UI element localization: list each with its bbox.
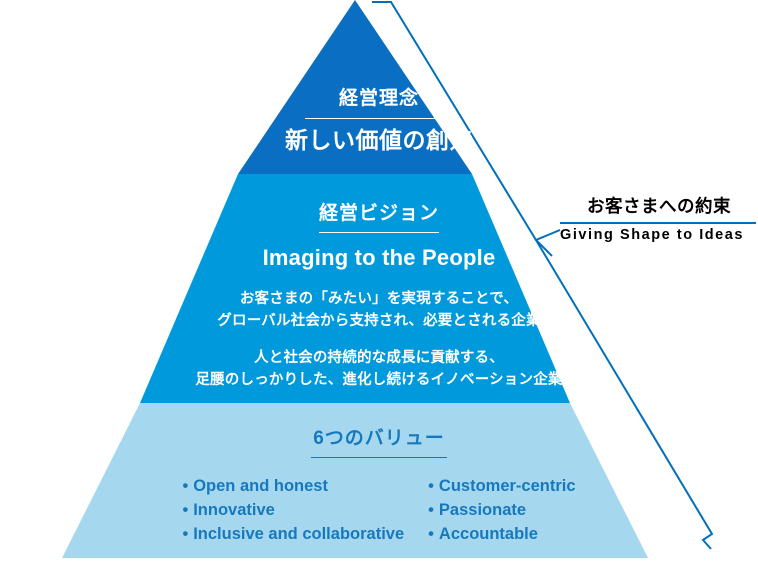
callout-heading: お客さまへの約束 [560, 196, 758, 218]
customer-promise-callout: お客さまへの約束 Giving Shape to Ideas [560, 196, 758, 244]
vision-statements: お客さまの「みたい」を実現することで、 グローバル社会から支持され、必要とされる… [0, 288, 758, 391]
values-columns: •Open and honest •Innovative •Inclusive … [0, 474, 758, 546]
vision-divider [319, 232, 439, 233]
value-item: •Inclusive and collaborative [182, 522, 404, 546]
bullet-icon: • [428, 522, 434, 546]
values-column-right: •Customer-centric •Passionate •Accountab… [428, 474, 575, 546]
value-label: Innovative [193, 501, 275, 519]
value-item: •Innovative [182, 498, 404, 522]
bullet-icon: • [182, 474, 188, 498]
value-item: •Passionate [428, 498, 575, 522]
values-block: 6つのバリュー •Open and honest •Innovative •In… [0, 428, 758, 547]
callout-divider [560, 222, 756, 224]
philosophy-heading: 経営理念 [0, 88, 758, 111]
value-label: Open and honest [193, 477, 328, 495]
value-label: Accountable [439, 525, 538, 543]
vision-statement-line: グローバル社会から支持され、必要とされる企業 [0, 310, 758, 332]
values-heading: 6つのバリュー [0, 428, 758, 451]
philosophy-divider [305, 118, 453, 119]
values-divider [311, 457, 447, 459]
value-label: Inclusive and collaborative [193, 525, 404, 543]
values-column-left: •Open and honest •Innovative •Inclusive … [182, 474, 404, 546]
vision-statement-line: 人と社会の持続的な成長に貢献する、 [0, 347, 758, 369]
bullet-icon: • [182, 498, 188, 522]
vision-statement-line: お客さまの「みたい」を実現することで、 [0, 288, 758, 310]
vision-statement: お客さまの「みたい」を実現することで、 グローバル社会から支持され、必要とされる… [0, 288, 758, 332]
value-item: •Open and honest [182, 474, 404, 498]
value-item: •Customer-centric [428, 474, 575, 498]
bullet-icon: • [428, 498, 434, 522]
value-item: •Accountable [428, 522, 575, 546]
philosophy-statement: 新しい価値の創造 [0, 127, 758, 155]
bullet-icon: • [428, 474, 434, 498]
value-label: Passionate [439, 501, 526, 519]
vision-statement: 人と社会の持続的な成長に貢献する、 足腰のしっかりした、進化し続けるイノベーショ… [0, 347, 758, 391]
callout-tagline: Giving Shape to Ideas [560, 227, 758, 244]
philosophy-block: 経営理念 新しい価値の創造 [0, 88, 758, 154]
vision-statement-line: 足腰のしっかりした、進化し続けるイノベーション企業 [0, 369, 758, 391]
vision-tagline: Imaging to the People [0, 245, 758, 271]
bullet-icon: • [182, 522, 188, 546]
pyramid-diagram: 経営理念 新しい価値の創造 経営ビジョン Imaging to the Peop… [0, 0, 758, 563]
value-label: Customer-centric [439, 477, 576, 495]
